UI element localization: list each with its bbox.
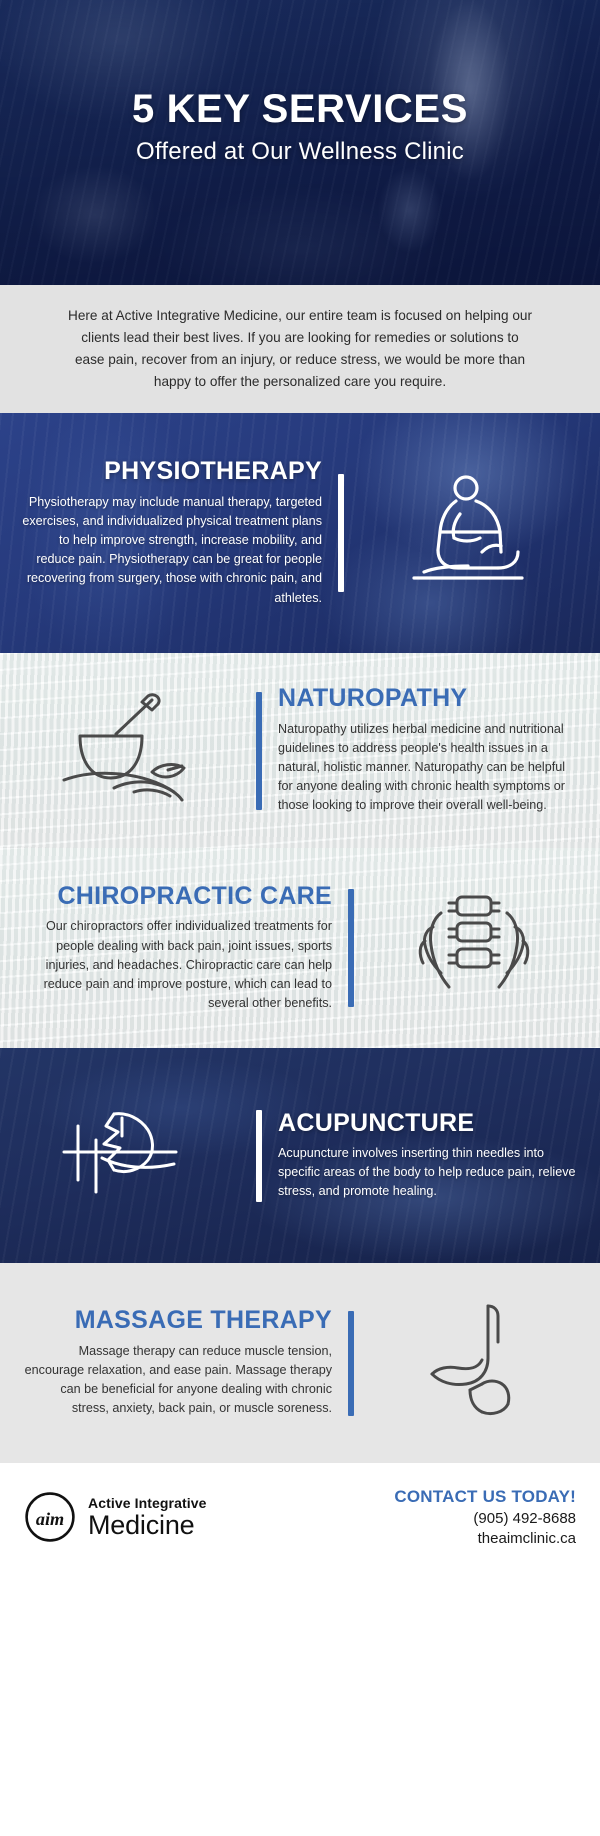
massage-text-block: MASSAGE THERAPY Massage therapy can redu… <box>22 1307 332 1418</box>
section-physiotherapy: PHYSIOTHERAPY Physiotherapy may include … <box>0 413 600 653</box>
hero-banner: 5 KEY SERVICES Offered at Our Wellness C… <box>0 0 600 285</box>
section-acupuncture: ACUPUNCTURE Acupuncture involves inserti… <box>0 1048 600 1263</box>
naturopathy-accent-bar <box>256 692 262 810</box>
section-chiropractic-care: CHIROPRACTIC CARE Our chiropractors offe… <box>0 848 600 1048</box>
acupuncture-body: Acupuncture involves inserting thin need… <box>278 1144 578 1201</box>
chiropractic-body: Our chiropractors offer individualized t… <box>22 917 332 1013</box>
naturopathy-heading: NATUROPATHY <box>278 685 578 713</box>
physiotherapy-accent-bar <box>338 474 344 592</box>
acupuncture-text-block: ACUPUNCTURE Acupuncture involves inserti… <box>278 1110 578 1202</box>
contact-website[interactable]: theaimclinic.ca <box>394 1530 576 1547</box>
massage-hands-icon <box>404 1298 544 1428</box>
acupuncture-accent-bar <box>256 1110 262 1202</box>
footer: aim Active Integrative Medicine CONTACT … <box>0 1463 600 1571</box>
hands-holding-spine-icon <box>399 883 549 1013</box>
section-naturopathy: NATUROPATHY Naturopathy utilizes herbal … <box>0 653 600 848</box>
massage-body: Massage therapy can reduce muscle tensio… <box>22 1342 332 1419</box>
physiotherapy-heading: PHYSIOTHERAPY <box>22 458 322 486</box>
page-subtitle: Offered at Our Wellness Clinic <box>0 138 600 166</box>
naturopathy-icon-area <box>22 688 240 813</box>
massage-icon-area <box>370 1298 578 1428</box>
contact-phone[interactable]: (905) 492-8688 <box>394 1510 576 1527</box>
aim-circle-logo-icon: aim <box>24 1491 76 1543</box>
acupuncture-heading: ACUPUNCTURE <box>278 1110 578 1138</box>
intro-paragraph: Here at Active Integrative Medicine, our… <box>65 305 535 393</box>
massage-accent-bar <box>348 1311 354 1416</box>
contact-block: CONTACT US TODAY! (905) 492-8688 theaimc… <box>394 1487 576 1547</box>
naturopathy-body: Naturopathy utilizes herbal medicine and… <box>278 720 578 816</box>
intro-block: Here at Active Integrative Medicine, our… <box>0 285 600 413</box>
brand-wordmark: Active Integrative Medicine <box>88 1496 207 1539</box>
infographic-page: 5 KEY SERVICES Offered at Our Wellness C… <box>0 0 600 1836</box>
physiotherapy-icon-area <box>360 468 578 598</box>
chiropractic-heading: CHIROPRACTIC CARE <box>22 883 332 911</box>
massage-heading: MASSAGE THERAPY <box>22 1307 332 1335</box>
section-massage-therapy: MASSAGE THERAPY Massage therapy can redu… <box>0 1263 600 1463</box>
contact-title: CONTACT US TODAY! <box>394 1487 576 1507</box>
aim-logo-text: aim <box>36 1509 64 1529</box>
chiropractic-accent-bar <box>348 889 354 1007</box>
physiotherapy-kneeling-therapist-icon <box>394 468 544 598</box>
brand-line-2: Medicine <box>88 1512 207 1539</box>
brand-line-1: Active Integrative <box>88 1496 207 1510</box>
naturopathy-text-block: NATUROPATHY Naturopathy utilizes herbal … <box>278 685 578 815</box>
brand-logo: aim Active Integrative Medicine <box>24 1491 207 1543</box>
acupuncture-icon-area <box>22 1096 240 1216</box>
hero-text-block: 5 KEY SERVICES Offered at Our Wellness C… <box>0 88 600 166</box>
chiropractic-icon-area <box>370 883 578 1013</box>
physiotherapy-text-block: PHYSIOTHERAPY Physiotherapy may include … <box>22 458 322 607</box>
hand-with-needles-icon <box>56 1096 206 1216</box>
page-title: 5 KEY SERVICES <box>0 88 600 130</box>
chiropractic-text-block: CHIROPRACTIC CARE Our chiropractors offe… <box>22 883 332 1013</box>
physiotherapy-body: Physiotherapy may include manual therapy… <box>22 493 322 608</box>
mortar-and-pestle-herbs-icon <box>56 688 206 813</box>
